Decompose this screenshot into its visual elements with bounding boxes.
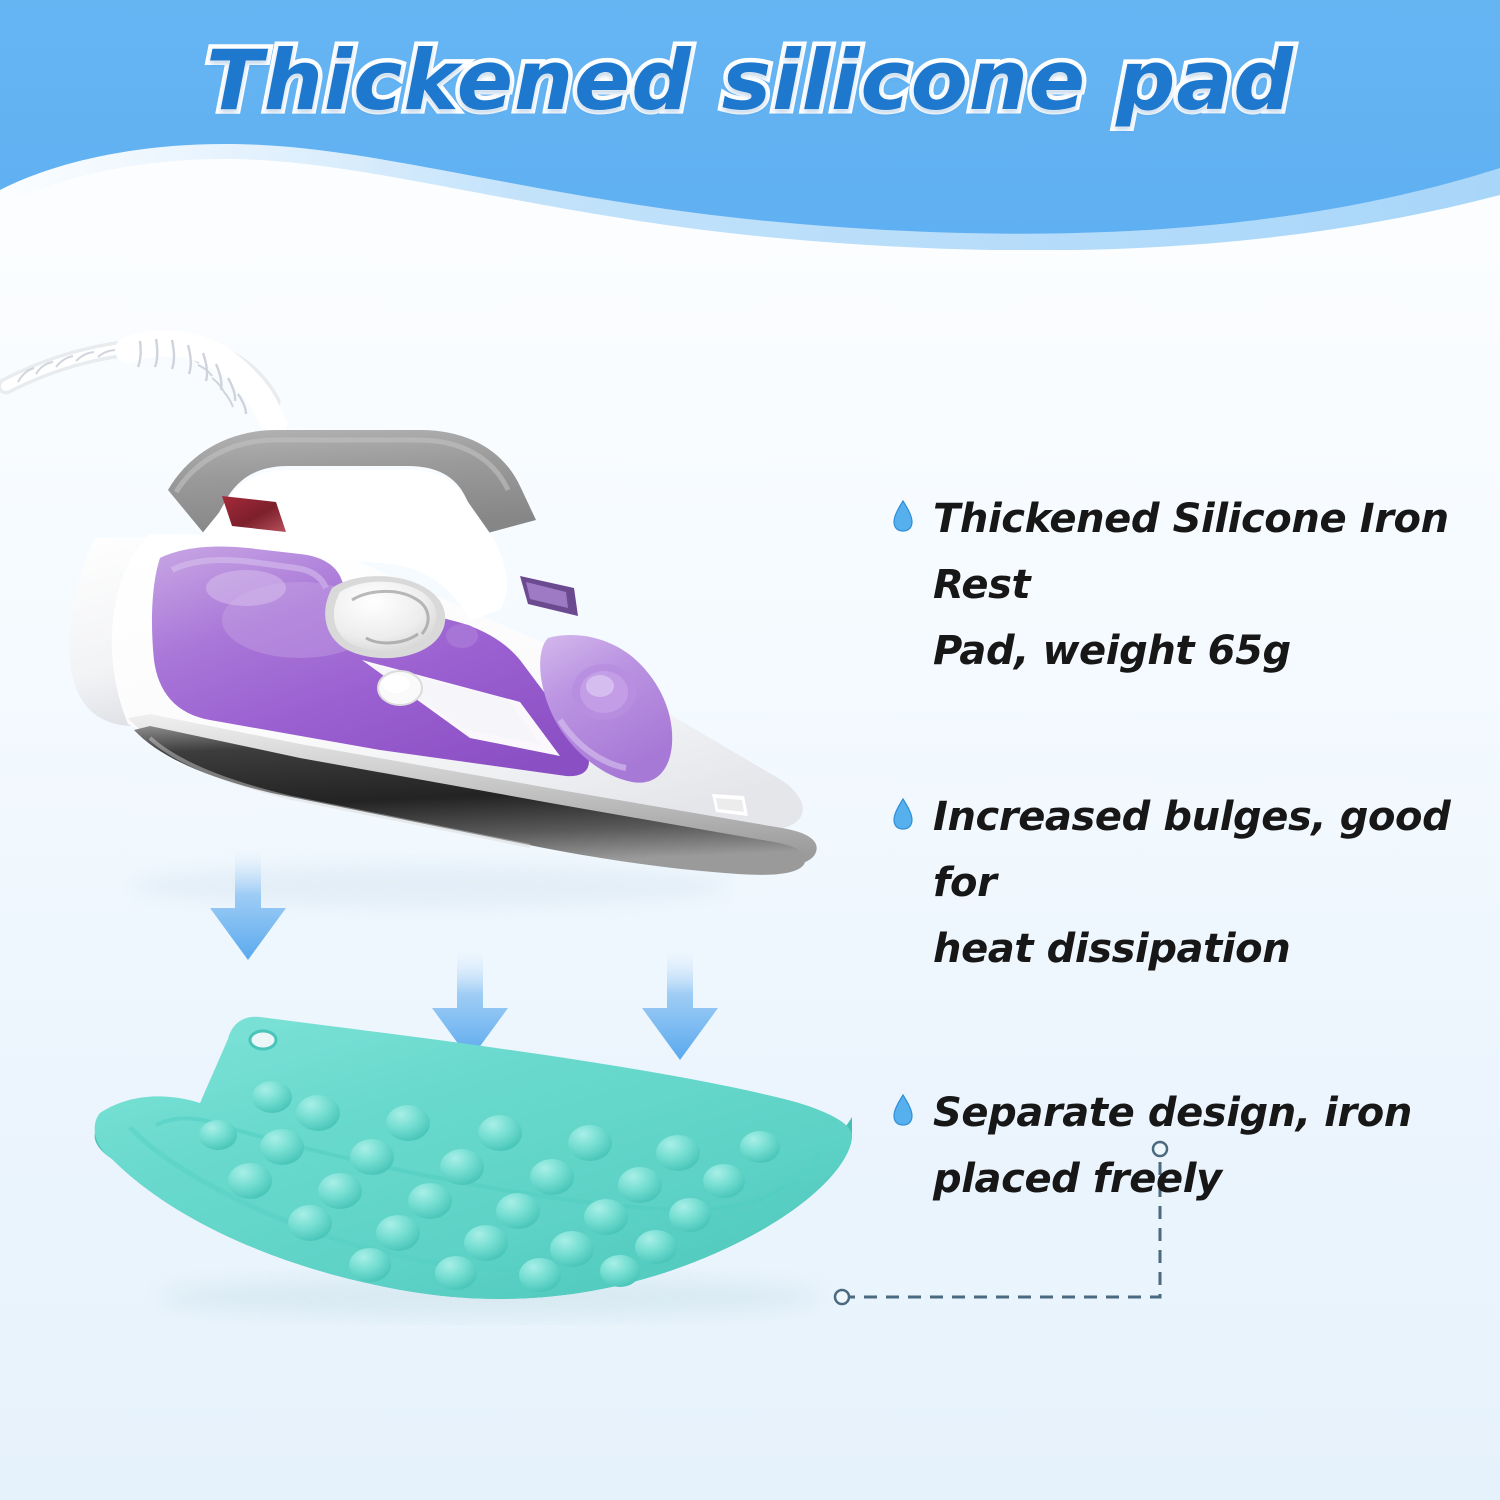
steam-dial[interactable] xyxy=(325,576,445,658)
header-banner: Thickened silicone pad xyxy=(0,0,1500,250)
feature-text-1: Thickened Silicone Iron Rest Pad, weight… xyxy=(933,486,1493,684)
feature-text-3: Separate design, iron placed freely xyxy=(933,1080,1412,1212)
feature-item-3: Separate design, iron placed freely xyxy=(893,1080,1493,1212)
feature-text-2: Increased bulges, good for heat dissipat… xyxy=(933,784,1493,982)
callout-endpoint-bottom xyxy=(835,1290,849,1304)
silicone-iron-rest-pad-image xyxy=(60,975,890,1325)
steam-iron-image xyxy=(0,320,840,930)
iron-drop-bullet-icon xyxy=(893,798,913,830)
feature-item-2: Increased bulges, good for heat dissipat… xyxy=(893,784,1493,982)
down-arrow-1 xyxy=(206,846,290,962)
iron-drop-bullet-icon xyxy=(893,500,913,532)
feature-item-1: Thickened Silicone Iron Rest Pad, weight… xyxy=(893,486,1493,684)
feature-list: Thickened Silicone Iron Rest Pad, weight… xyxy=(893,486,1493,1212)
iron-drop-bullet-icon xyxy=(893,1094,913,1126)
infographic-canvas: Thickened silicone pad xyxy=(0,0,1500,1500)
banner-wave-main xyxy=(0,0,1500,234)
hanging-hole xyxy=(250,1031,276,1049)
power-cord xyxy=(6,339,274,424)
